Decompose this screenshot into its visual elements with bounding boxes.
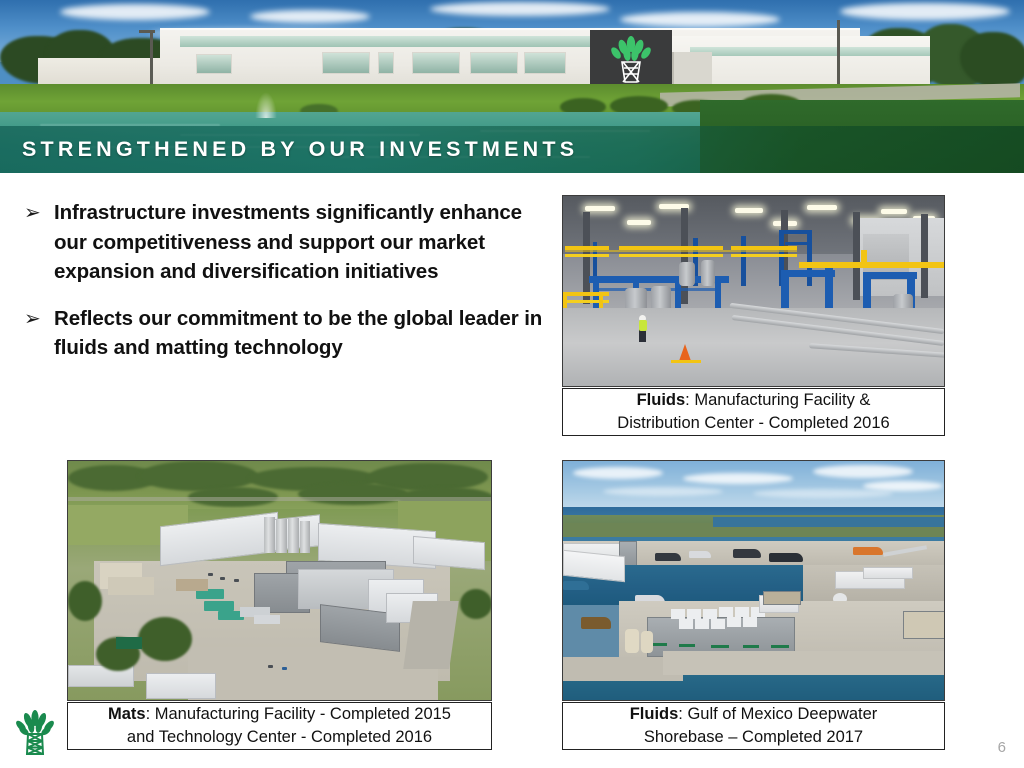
caption-line2: Distribution Center - Completed 2016 <box>617 412 889 435</box>
caption-line: Fluids: Manufacturing Facility & <box>637 389 871 412</box>
newpark-tree-logo-facade <box>608 36 654 86</box>
worker-hi-vis-vest <box>639 320 647 331</box>
caption-lead: Mats <box>108 705 146 723</box>
arrow-bullet-icon: ➢ <box>24 304 54 333</box>
slide: STRENGTHENED BY OUR INVESTMENTS ➢ Infras… <box>0 0 1024 768</box>
arrow-bullet-icon: ➢ <box>24 198 54 227</box>
cloud <box>430 2 610 16</box>
caption-line1: : Manufacturing Facility - Completed 201… <box>146 705 451 723</box>
caption-gulf-shorebase: Fluids: Gulf of Mexico Deepwater Shoreba… <box>562 702 945 750</box>
photo-mats-facility <box>67 460 492 701</box>
caption-fluids-manufacturing: Fluids: Manufacturing Facility & Distrib… <box>562 388 945 436</box>
cloud <box>250 10 370 23</box>
light-pole <box>150 30 153 92</box>
building-glass-band <box>690 47 930 56</box>
caption-line2: and Technology Center - Completed 2016 <box>127 726 432 749</box>
list-item: ➢ Reflects our commitment to be the glob… <box>24 304 544 363</box>
photo-gulf-shorebase <box>562 460 945 701</box>
cloud <box>840 3 1010 20</box>
traffic-cone <box>679 344 691 361</box>
caption-line1: : Gulf of Mexico Deepwater <box>678 705 877 723</box>
photo-fluids-manufacturing <box>562 195 945 387</box>
caption-line: Fluids: Gulf of Mexico Deepwater <box>630 703 878 726</box>
caption-lead: Fluids <box>637 391 686 409</box>
bullet-text: Infrastructure investments significantly… <box>54 198 544 287</box>
page-number: 6 <box>998 739 1006 756</box>
caption-line2: Shorebase – Completed 2017 <box>644 726 863 749</box>
light-pole <box>837 20 840 94</box>
slide-title-bar: STRENGTHENED BY OUR INVESTMENTS <box>0 126 1024 173</box>
list-item: ➢ Infrastructure investments significant… <box>24 198 544 287</box>
bullet-text: Reflects our commitment to be the global… <box>54 304 544 363</box>
fountain <box>255 92 277 118</box>
bullet-list: ➢ Infrastructure investments significant… <box>24 198 544 380</box>
caption-line1: : Manufacturing Facility & <box>685 391 870 409</box>
caption-line: Mats: Manufacturing Facility - Completed… <box>108 703 451 726</box>
light-pole-arm <box>139 30 155 33</box>
page-title: STRENGTHENED BY OUR INVESTMENTS <box>0 137 578 162</box>
caption-lead: Fluids <box>630 705 679 723</box>
caption-mats-facility: Mats: Manufacturing Facility - Completed… <box>67 702 492 750</box>
cloud <box>60 4 210 20</box>
newpark-tree-logo <box>14 710 56 758</box>
